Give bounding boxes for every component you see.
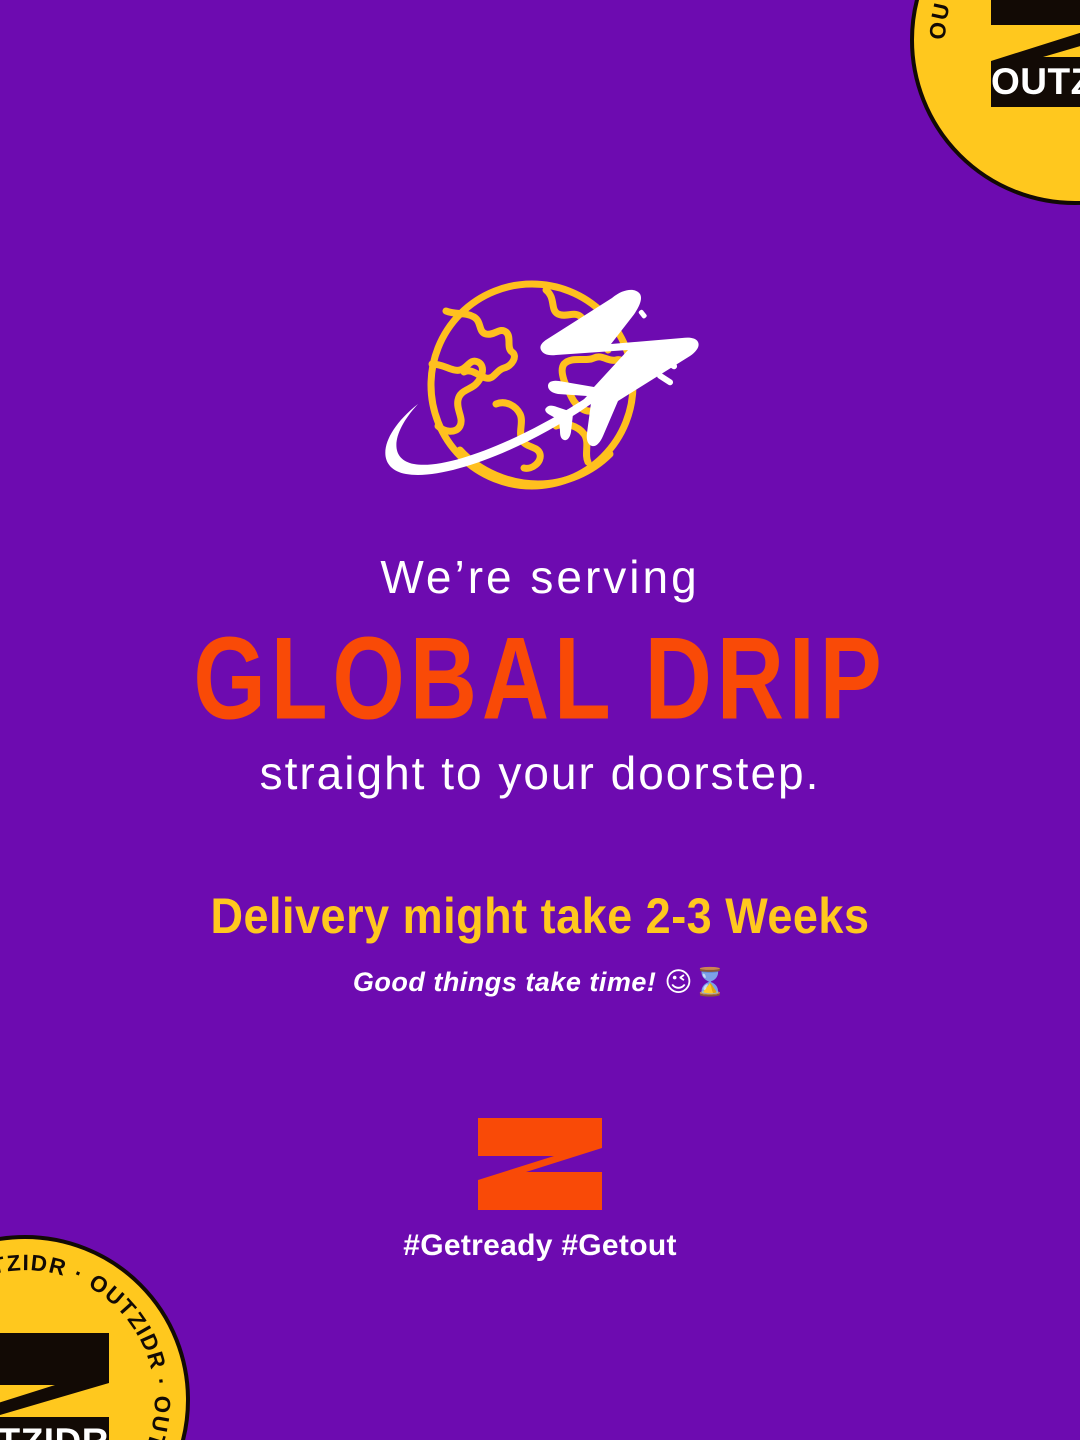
- badge-core-wordmark: OUTZIDR: [991, 61, 1080, 102]
- badge-core-wordmark: OUTZIDR: [0, 1421, 109, 1440]
- hashtags-text: #Getready #Getout: [0, 1229, 1080, 1263]
- globe-airplane-illustration: [360, 272, 720, 512]
- delivery-note-label: Good things take time!: [353, 967, 657, 997]
- badge-core-logo: OUTZIDR: [977, 0, 1080, 115]
- headline-text: GLOBAL DRIP: [16, 616, 1064, 742]
- wink-hourglass-emoji: 😉⌛: [664, 967, 727, 998]
- badge-top-right: OUTZIDR · OUTZIDR · OUTZIDR · OUTZIDR · …: [910, 0, 1080, 205]
- delivery-estimate-text: Delivery might take 2-3 Weeks: [0, 886, 1080, 946]
- badge-core-logo: OUTZIDR: [0, 1325, 123, 1440]
- copy-block: We’re serving GLOBAL DRIP straight to yo…: [0, 550, 1080, 1000]
- brand-logo: [478, 1118, 602, 1210]
- footer-lockup: #Getready #Getout: [0, 1118, 1080, 1263]
- kicker-text: We’re serving: [0, 550, 1080, 604]
- subline-text: straight to your doorstep.: [0, 746, 1080, 800]
- promo-poster: OUTZIDR · OUTZIDR · OUTZIDR · OUTZIDR · …: [0, 0, 1080, 1440]
- badge-bottom-left: OUTZIDR · OUTZIDR · OUTZIDR · OUTZIDR · …: [0, 1235, 190, 1440]
- z-logo-icon: [478, 1118, 602, 1210]
- delivery-note-text: Good things take time! 😉⌛: [0, 966, 1080, 1000]
